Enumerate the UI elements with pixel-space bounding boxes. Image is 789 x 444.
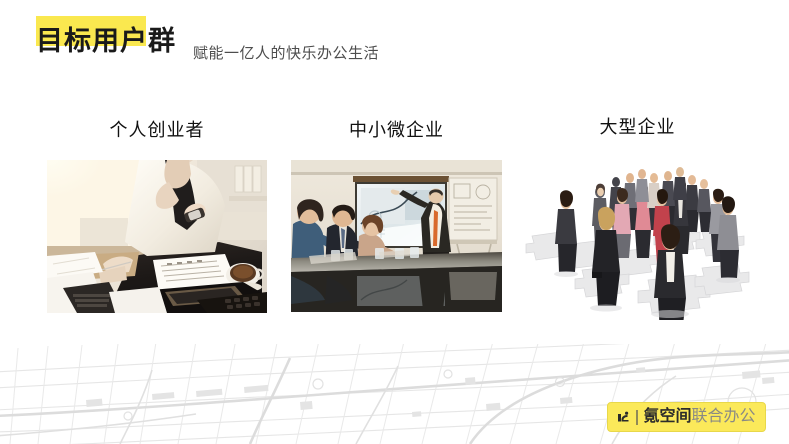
brand-secondary-text: 联合办公 bbox=[692, 409, 756, 425]
column-heading: 个人创业者 bbox=[47, 116, 267, 142]
audience-columns: 个人创业者 bbox=[0, 100, 789, 325]
businessman-at-desk-photo bbox=[47, 160, 267, 313]
slide-header: 目标用户群 赋能一亿人的快乐办公生活 bbox=[0, 0, 789, 80]
brand-primary-text: 氪空间 bbox=[644, 409, 692, 425]
page-title-wrap: 目标用户群 bbox=[36, 16, 176, 55]
slide-canvas: 目标用户群 赋能一亿人的快乐办公生活 个人创业者 bbox=[0, 0, 789, 444]
page-subtitle: 赋能一亿人的快乐办公生活 bbox=[193, 42, 379, 63]
logo-divider bbox=[636, 410, 638, 425]
brand-logo-badge[interactable]: 氪空间 联合办公 bbox=[607, 402, 766, 432]
team-meeting-presentation-photo bbox=[291, 160, 502, 312]
kr-space-mark-icon bbox=[615, 409, 632, 426]
page-title: 目标用户群 bbox=[36, 28, 176, 55]
column-heading: 中小微企业 bbox=[291, 116, 502, 142]
column-heading: 大型企业 bbox=[520, 113, 755, 139]
business-crowd-puzzle-photo bbox=[520, 148, 755, 320]
